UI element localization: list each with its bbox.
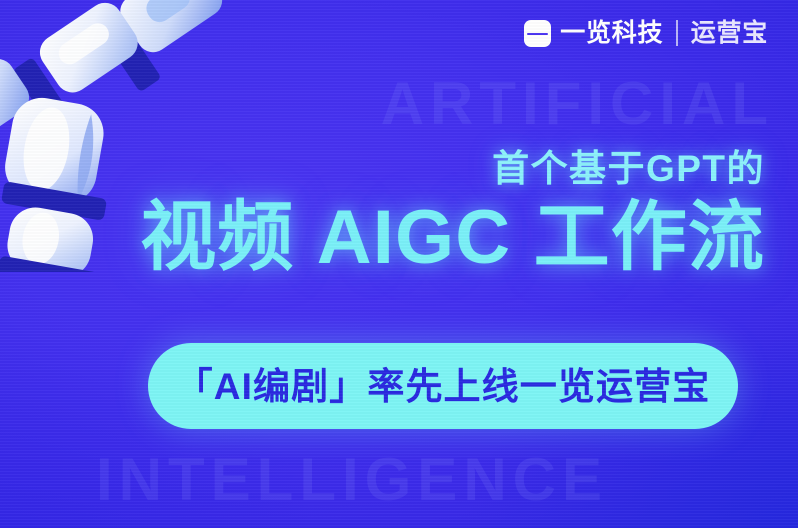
watermark-artificial: ARTIFICIAL — [381, 74, 774, 134]
logo-mark-icon — [524, 20, 551, 47]
logo-product-name: 运营宝 — [691, 21, 768, 46]
cta-pill[interactable]: 「AI编剧」率先上线一览运营宝 — [148, 343, 738, 429]
headline-title: 视频 AIGC 工作流 — [0, 195, 765, 280]
headline-subtitle: 首个基于GPT的 — [0, 148, 765, 189]
logo-divider — [676, 20, 678, 46]
brand-logo: 一览科技 运营宝 — [524, 16, 768, 50]
cta-pill-label: 「AI编剧」率先上线一览运营宝 — [176, 368, 711, 405]
promo-banner: ARTIFICIAL INTELLIGENCE — [0, 0, 798, 528]
watermark-intelligence: INTELLIGENCE — [96, 450, 608, 510]
logo-brand-name: 一览科技 — [560, 21, 663, 46]
headline-block: 首个基于GPT的 视频 AIGC 工作流 — [0, 148, 765, 281]
